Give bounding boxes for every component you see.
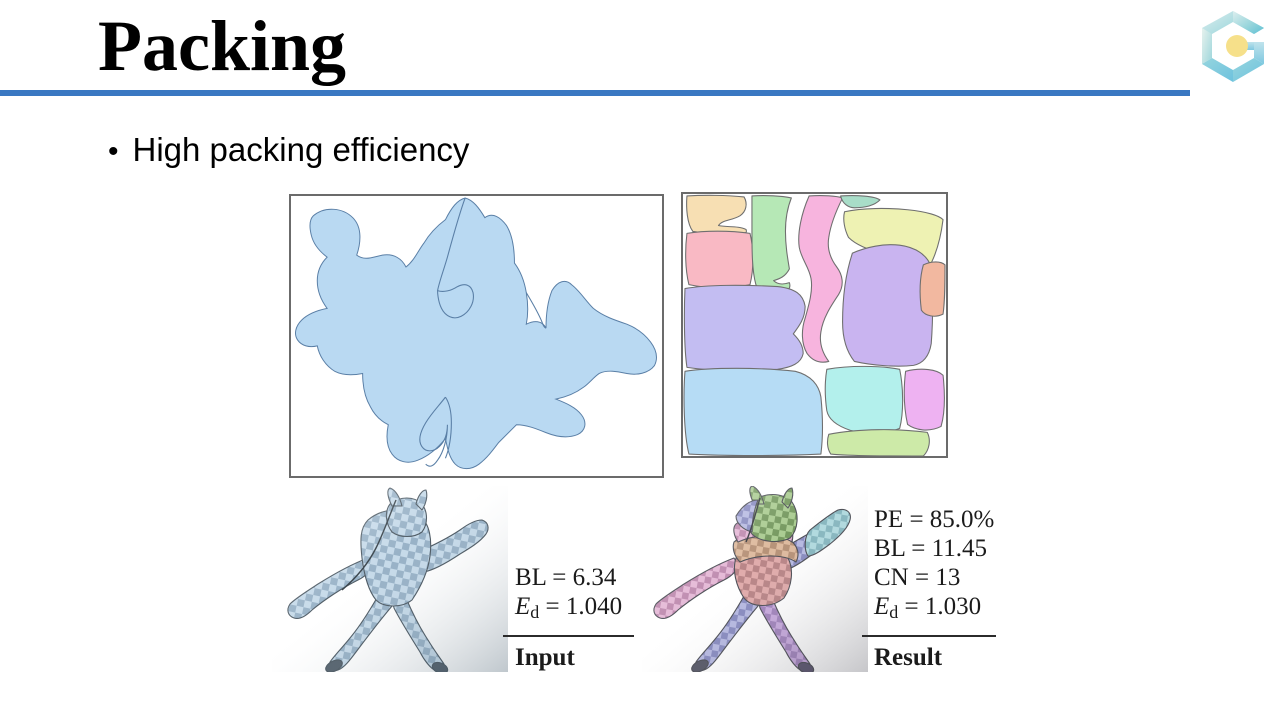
metric-row: Ed = 1.030 — [862, 592, 996, 627]
metric-value: 6.34 — [573, 564, 617, 591]
metric-label-subscript: d — [889, 602, 898, 622]
bullet-list: • High packing efficiency — [108, 130, 469, 170]
metric-row: PE = 85.0% — [862, 505, 996, 534]
hexagon-g-logo — [1196, 6, 1270, 86]
metric-label: BL — [874, 535, 905, 562]
metric-label: BL — [515, 564, 546, 591]
metrics-divider — [862, 635, 996, 637]
metric-value: 1.040 — [566, 593, 622, 620]
metrics-caption: Result — [862, 644, 996, 672]
metric-equals: = — [905, 535, 932, 562]
metric-value: 11.45 — [932, 535, 987, 562]
metric-value: 1.030 — [925, 593, 981, 620]
metrics-caption: Input — [503, 644, 634, 672]
metric-label: E — [874, 593, 889, 620]
metric-equals: = — [539, 593, 566, 620]
metric-equals: = — [546, 564, 573, 591]
metric-label: PE — [874, 506, 903, 533]
metric-label: CN — [874, 564, 909, 591]
metric-row: BL = 6.34 — [503, 563, 634, 592]
metric-equals: = — [903, 506, 930, 533]
metric-label: E — [515, 593, 530, 620]
metric-value: 85.0% — [930, 506, 995, 533]
metrics-input-block: BL = 6.34 Ed = 1.040 Input — [503, 563, 634, 672]
metric-equals: = — [909, 564, 936, 591]
metric-equals: = — [898, 593, 925, 620]
3d-model-input — [272, 486, 508, 672]
3d-model-result — [642, 486, 868, 672]
metrics-result-block: PE = 85.0% BL = 11.45 CN = 13 Ed = 1.030… — [862, 505, 996, 672]
metric-row: BL = 11.45 — [862, 534, 996, 563]
metric-row: Ed = 1.040 — [503, 592, 634, 627]
bullet-marker-icon: • — [108, 137, 119, 167]
uv-atlas-unpacked-figure — [289, 194, 664, 478]
metric-label-subscript: d — [530, 602, 539, 622]
atlas-chart-shape — [296, 198, 657, 469]
bullet-item-label: High packing efficiency — [133, 130, 470, 170]
page-title: Packing — [98, 2, 346, 90]
metrics-divider — [503, 635, 634, 637]
uv-atlas-packed-figure — [681, 192, 948, 458]
title-underline-rule — [0, 90, 1190, 96]
metric-row: CN = 13 — [862, 563, 996, 592]
metric-value: 13 — [935, 564, 960, 591]
